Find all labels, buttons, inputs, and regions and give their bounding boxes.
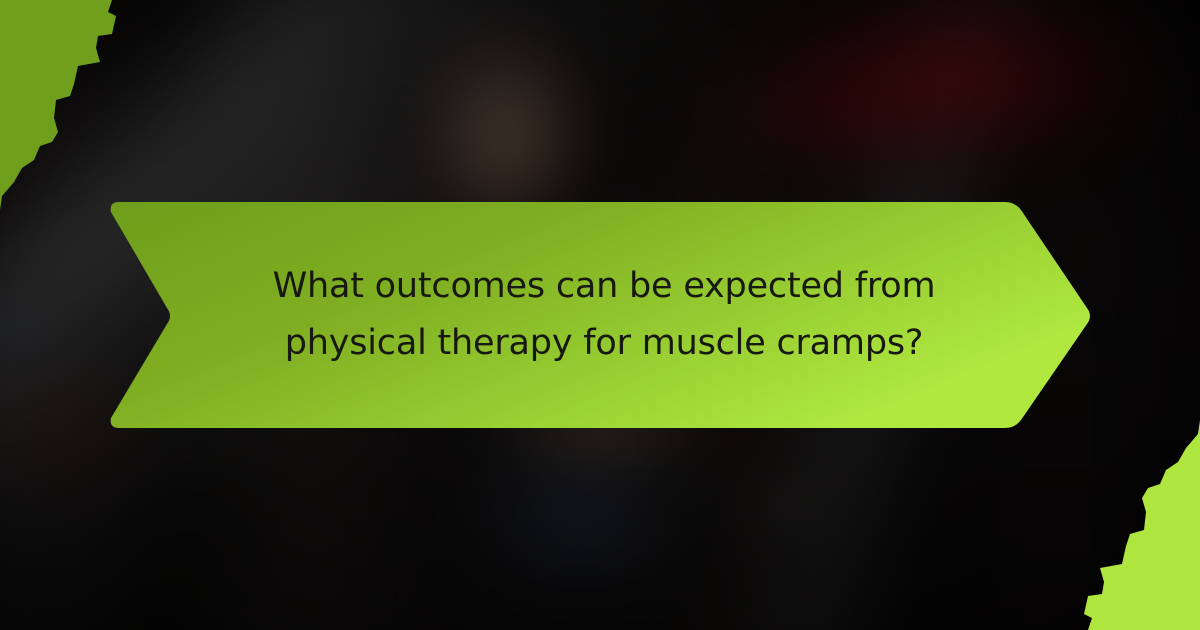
question-line-1: What outcomes can be expected from (273, 258, 936, 315)
question-line-2: physical therapy for muscle cramps? (285, 315, 924, 372)
question-text-block: What outcomes can be expected from physi… (105, 196, 1093, 434)
share-card-canvas: What outcomes can be expected from physi… (0, 0, 1200, 630)
